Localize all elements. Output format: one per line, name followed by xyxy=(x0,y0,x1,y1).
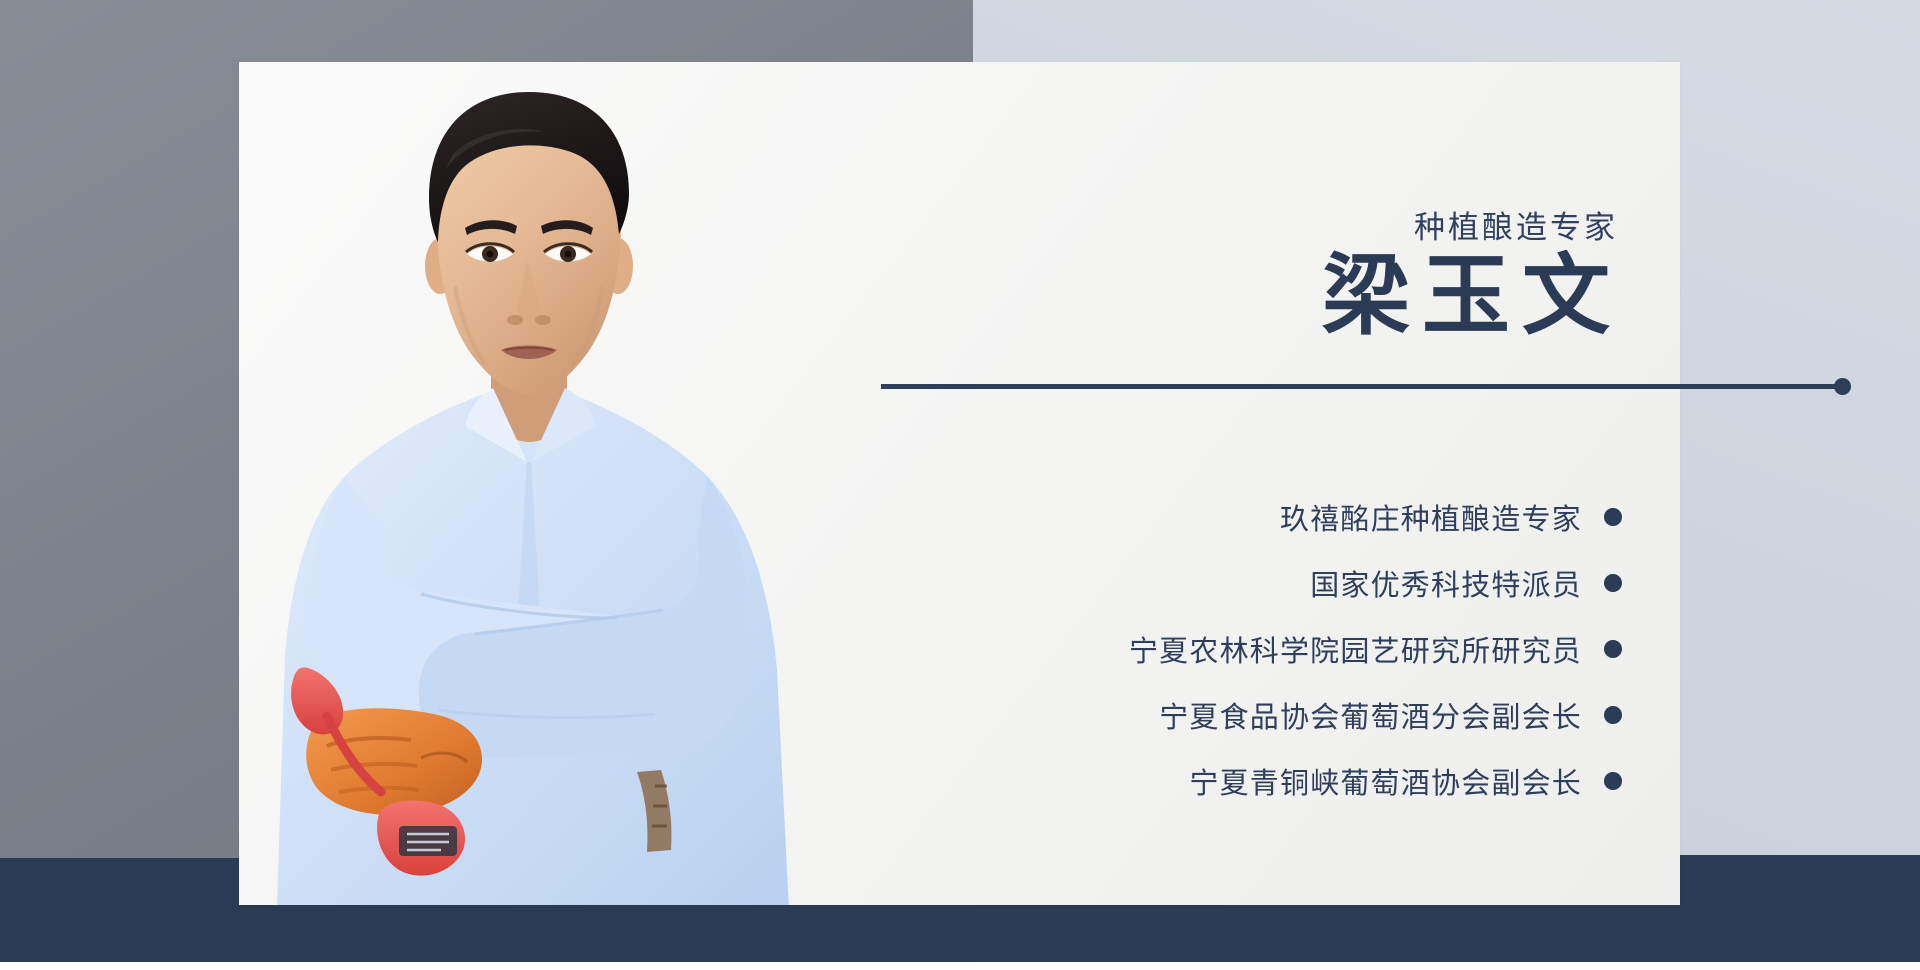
neck-shadow xyxy=(491,332,567,390)
credential-text: 玖禧酩庄种植酿造专家 xyxy=(1280,496,1582,538)
belt-strap xyxy=(637,770,672,852)
eyelid-right xyxy=(544,244,592,252)
nostril-right xyxy=(535,315,551,325)
bullet-dot-icon xyxy=(1604,772,1622,790)
bullet-dot-icon xyxy=(1604,706,1622,724)
list-item: 国家优秀科技特派员 xyxy=(882,550,1622,616)
divider-line xyxy=(881,384,1841,389)
eye-right-iris xyxy=(560,246,576,262)
profile-card: 种植酿造专家 梁玉文 玖禧酩庄种植酿造专家 国家优秀科技特派员 宁夏农林科学院园… xyxy=(239,62,1680,905)
divider-end-dot-icon xyxy=(1834,378,1851,395)
ear-right xyxy=(603,238,633,294)
neck xyxy=(491,332,567,442)
mouth xyxy=(501,346,557,360)
nostril-left xyxy=(507,315,523,325)
nose-bridge xyxy=(518,260,541,320)
background-strip-white-bottom xyxy=(0,962,1920,970)
list-item: 宁夏青铜峡葡萄酒协会副会长 xyxy=(882,748,1622,814)
portrait-illustration xyxy=(269,70,829,905)
eye-left-white xyxy=(467,247,513,262)
credential-text: 宁夏青铜峡葡萄酒协会副会长 xyxy=(1189,760,1582,802)
eye-right-white xyxy=(545,247,591,262)
portrait-photo xyxy=(239,62,839,905)
hair-highlight xyxy=(445,129,545,170)
bullet-dot-icon xyxy=(1604,640,1622,658)
list-item: 玖禧酩庄种植酿造专家 xyxy=(882,484,1622,550)
list-item: 宁夏农林科学院园艺研究所研究员 xyxy=(882,616,1622,682)
shirt-body xyxy=(277,388,789,905)
work-glove xyxy=(306,708,482,815)
cheek-shadow-left xyxy=(455,286,485,364)
sleeve-fold-3 xyxy=(439,710,655,717)
eyebrow-right xyxy=(541,220,593,235)
eye-right-pupil xyxy=(565,251,572,258)
credential-text: 宁夏农林科学院园艺研究所研究员 xyxy=(1129,628,1582,670)
mouth-line xyxy=(505,348,553,350)
profile-content: 种植酿造专家 梁玉文 玖禧酩庄种植酿造专家 国家优秀科技特派员 宁夏农林科学院园… xyxy=(839,62,1680,905)
bullet-dot-icon xyxy=(1604,574,1622,592)
collar-left xyxy=(465,388,527,462)
credentials-list: 玖禧酩庄种植酿造专家 国家优秀科技特派员 宁夏农林科学院园艺研究所研究员 宁夏食… xyxy=(882,484,1622,814)
sleeve-fold-1 xyxy=(421,594,617,618)
eyebrow-left xyxy=(465,220,517,235)
eyelid-left xyxy=(466,244,514,252)
cheek-shadow-right xyxy=(573,286,603,364)
collar-right xyxy=(531,388,595,462)
belt-stitching xyxy=(652,786,667,826)
shirt-placket xyxy=(517,462,541,630)
ear-left xyxy=(425,238,455,294)
eye-left-pupil xyxy=(487,251,494,258)
bullet-dot-icon xyxy=(1604,508,1622,526)
hair xyxy=(429,92,629,242)
credential-text: 国家优秀科技特派员 xyxy=(1310,562,1582,604)
eye-left-iris xyxy=(482,246,498,262)
face xyxy=(437,104,621,394)
page-title: 梁玉文 xyxy=(1322,252,1622,344)
slide-canvas: 种植酿造专家 梁玉文 玖禧酩庄种植酿造专家 国家优秀科技特派员 宁夏农林科学院园… xyxy=(0,0,1920,970)
role-label: 种植酿造专家 xyxy=(1414,202,1618,247)
pruning-tool xyxy=(291,667,465,875)
arm-right-sleeve xyxy=(419,476,750,758)
sleeve-fold-2 xyxy=(475,610,663,634)
list-item: 宁夏食品协会葡萄酒分会副会长 xyxy=(882,682,1622,748)
arm-left-sleeve xyxy=(308,478,670,752)
credential-text: 宁夏食品协会葡萄酒分会副会长 xyxy=(1159,694,1582,736)
